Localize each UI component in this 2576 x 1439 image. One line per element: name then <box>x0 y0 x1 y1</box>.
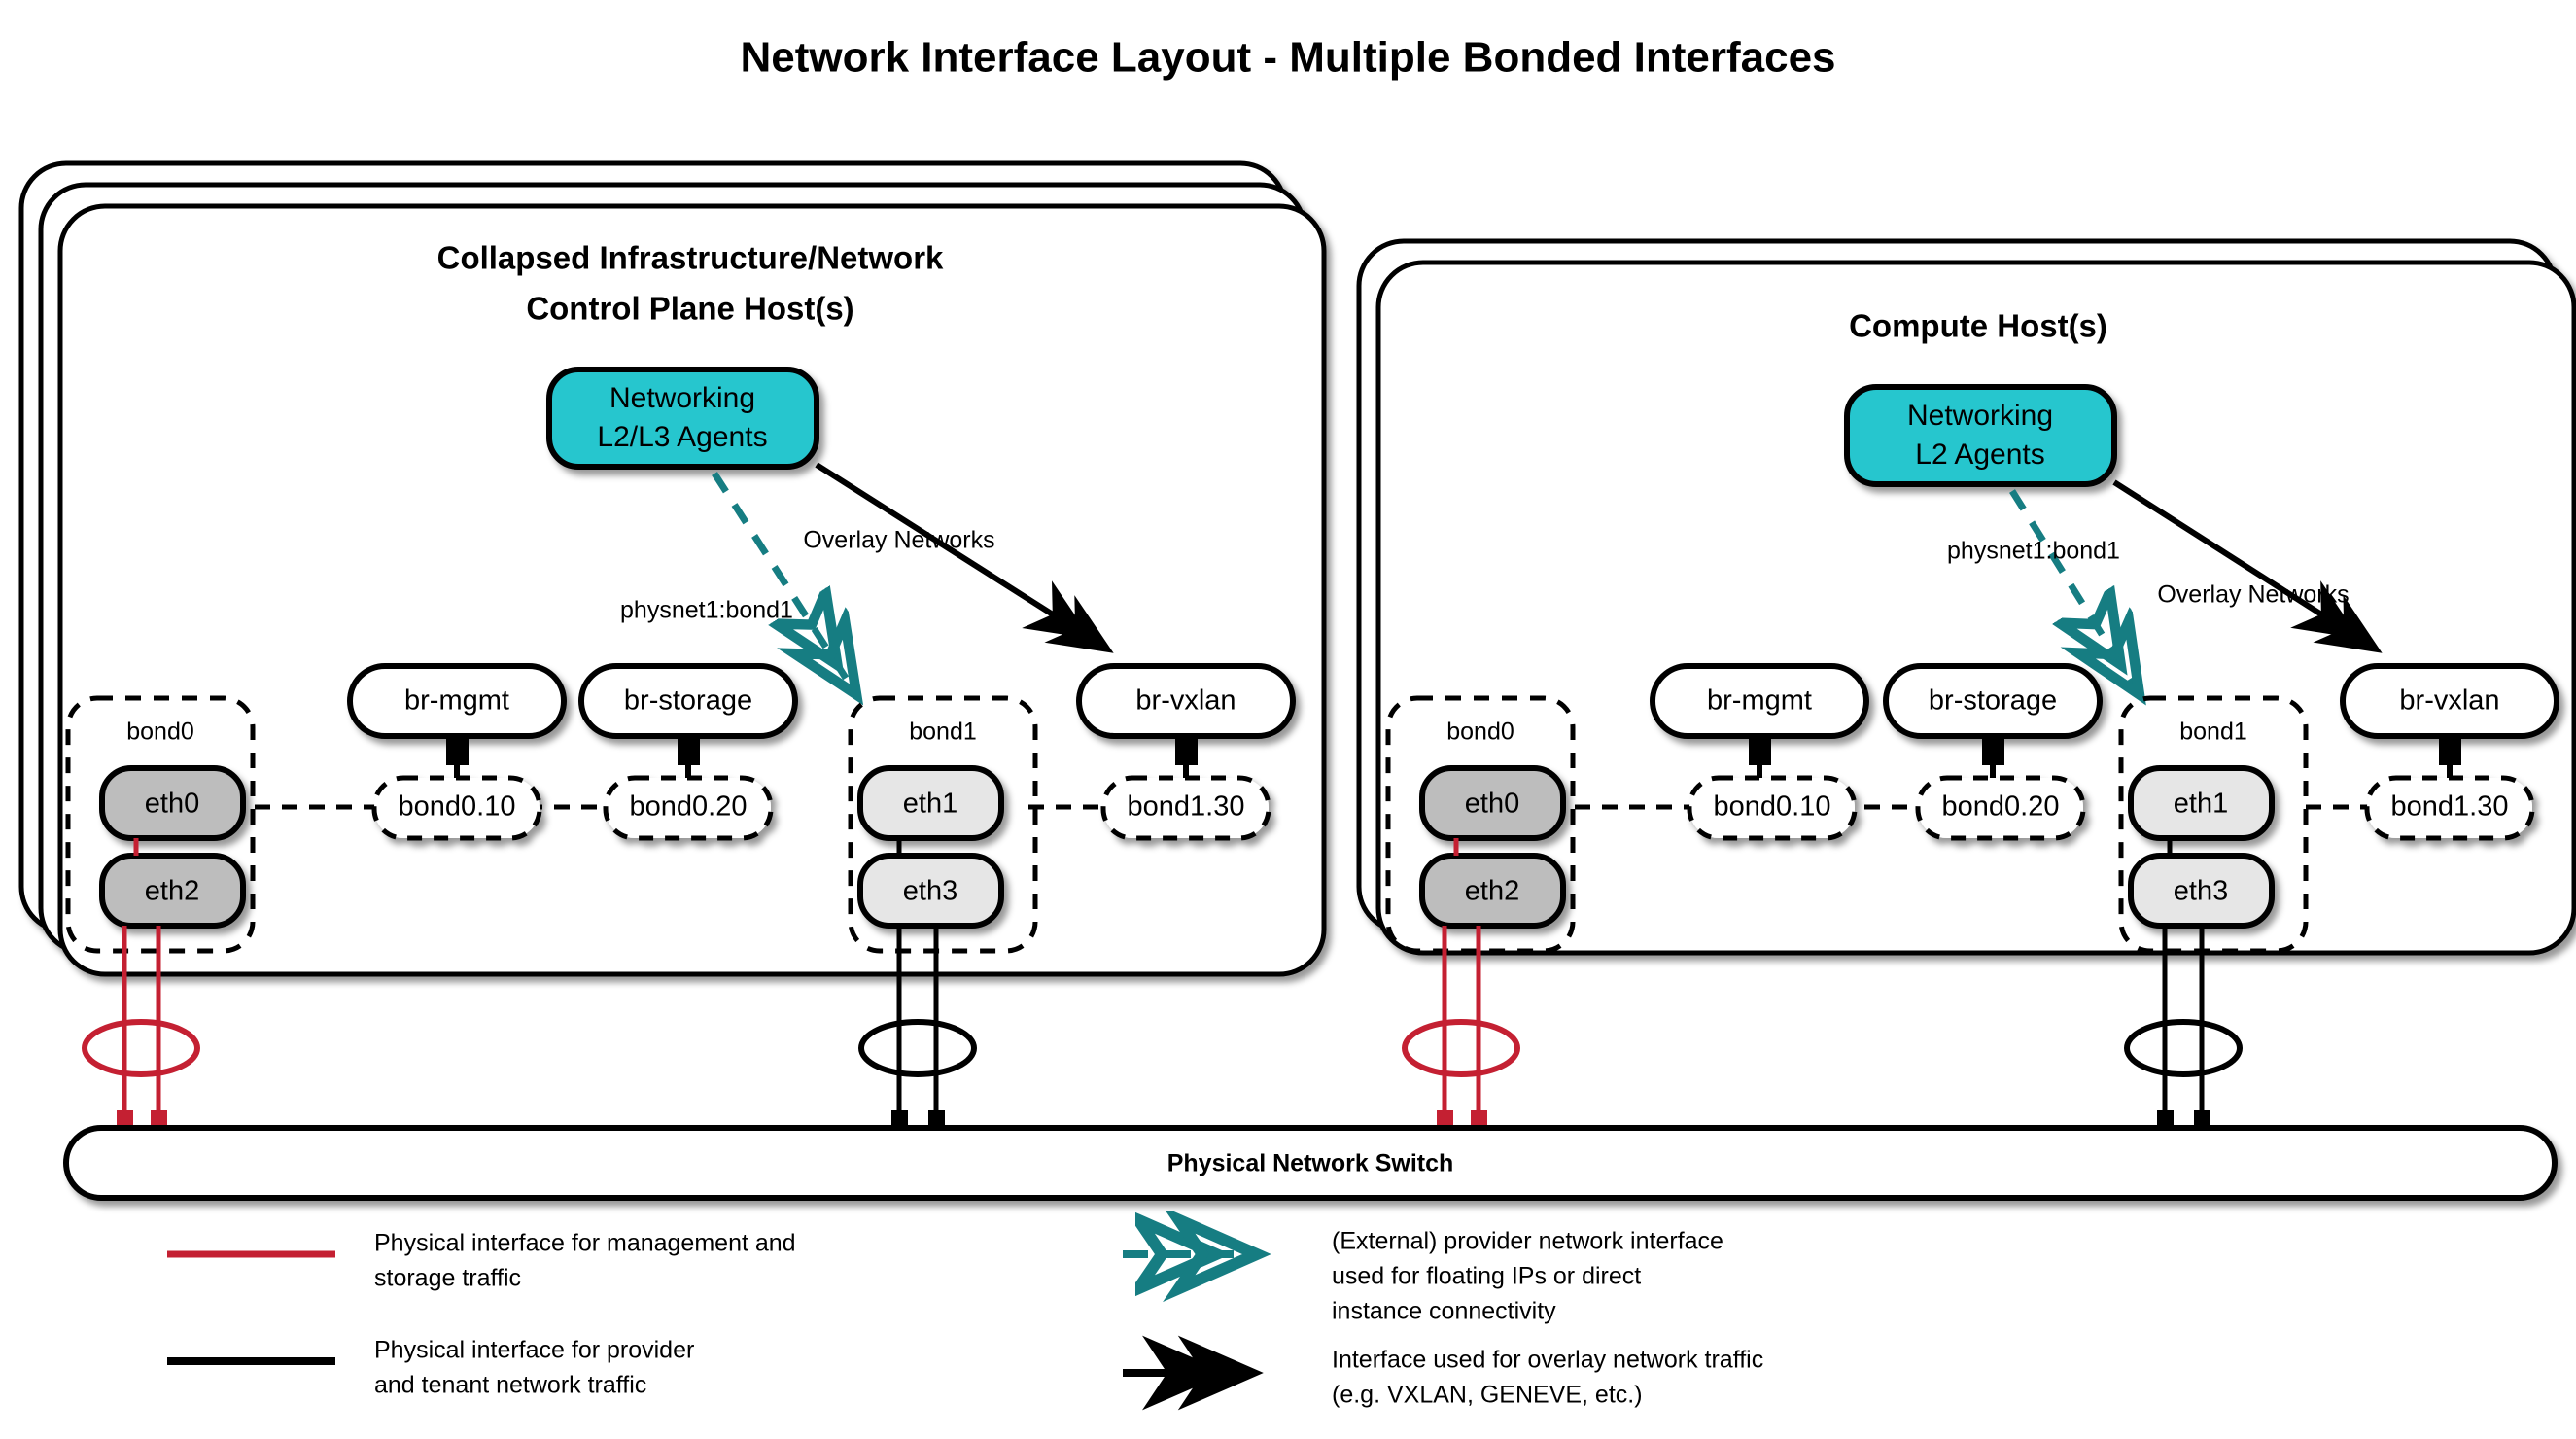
host-title-line1: Collapsed Infrastructure/Network <box>437 240 944 276</box>
br-storage-label: br-storage <box>624 685 752 717</box>
bond0-10-label: bond0.10 <box>399 791 516 823</box>
bond1-30-label: bond1.30 <box>1128 791 1245 823</box>
cable-bundle-marker-black <box>861 1022 974 1074</box>
br-mgmt-label: br-mgmt <box>1707 685 1812 717</box>
legend-text-line2: and tenant network traffic <box>374 1372 646 1399</box>
host-title-line1: Compute Host(s) <box>1849 308 2107 344</box>
bond1-label: bond1 <box>2179 719 2247 746</box>
host-panel-front <box>1378 263 2574 953</box>
cable-bundle-marker-red <box>85 1022 197 1074</box>
agents-label-line2: L2 Agents <box>1915 439 2044 471</box>
br-vxlan-label: br-vxlan <box>2399 685 2499 717</box>
agents-label-line1: Networking <box>1907 400 2053 432</box>
bond0-10-label: bond0.10 <box>1714 791 1831 823</box>
eth0-label: eth0 <box>145 789 199 820</box>
br-vxlan-label: br-vxlan <box>1135 685 1236 717</box>
agents-label-line1: Networking <box>609 382 755 414</box>
host-title-line2: Control Plane Host(s) <box>526 291 853 327</box>
network-diagram: Network Interface Layout - Multiple Bond… <box>0 0 2576 1439</box>
legend-text-line2: used for floating IPs or direct <box>1332 1263 1641 1290</box>
bond1-label: bond1 <box>909 719 977 746</box>
legend-text-line1: Interface used for overlay network traff… <box>1332 1347 1763 1374</box>
bond0-label: bond0 <box>1446 719 1514 746</box>
cable-bundle-marker-black <box>2127 1022 2240 1074</box>
diagram-canvas: Network Interface Layout - Multiple Bond… <box>0 0 2576 1439</box>
eth3-label: eth3 <box>903 876 957 907</box>
br-mgmt-label: br-mgmt <box>404 685 509 717</box>
host-panel-control: Collapsed Infrastructure/Network Control… <box>21 163 1324 1141</box>
eth3-label: eth3 <box>2174 876 2228 907</box>
bridge-port-br-vxlan <box>1175 736 1198 765</box>
physical-network-switch[interactable]: Physical Network Switch <box>66 1128 2555 1198</box>
legend: Physical interface for management and st… <box>167 1228 1763 1409</box>
legend-text-line1: Physical interface for provider <box>374 1337 694 1364</box>
provider-edge-label: physnet1:bond1 <box>620 597 793 624</box>
eth1-label: eth1 <box>903 789 957 820</box>
br-storage-label: br-storage <box>1929 685 2057 717</box>
legend-text-line3: instance connectivity <box>1332 1298 1556 1325</box>
legend-item-3: (External) provider network interface us… <box>1123 1228 1723 1325</box>
overlay-edge-label: Overlay Networks <box>2157 581 2349 609</box>
page-title: Network Interface Layout - Multiple Bond… <box>740 34 1835 82</box>
eth1-label: eth1 <box>2174 789 2228 820</box>
cable-bundle-marker-red <box>1405 1022 1517 1074</box>
legend-item-1: Physical interface for management and st… <box>167 1230 796 1292</box>
bond0-20-label: bond0.20 <box>630 791 748 823</box>
legend-text-line1: (External) provider network interface <box>1332 1228 1723 1255</box>
overlay-edge-label: Overlay Networks <box>803 527 994 554</box>
legend-text-line1: Physical interface for management and <box>374 1230 796 1257</box>
legend-text-line2: storage traffic <box>374 1265 521 1292</box>
bridge-port-br-mgmt <box>1749 736 1771 765</box>
bridge-port-br-storage <box>1982 736 2004 765</box>
agents-label-line2: L2/L3 Agents <box>597 421 767 453</box>
bridge-port-br-storage <box>678 736 700 765</box>
host-panel-compute: Compute Host(s) Networking L2 Agents phy… <box>1359 241 2574 1141</box>
bridge-port-br-mgmt <box>446 736 469 765</box>
bond1-30-label: bond1.30 <box>2391 791 2509 823</box>
provider-edge-label: physnet1:bond1 <box>1947 538 2120 565</box>
eth0-label: eth0 <box>1465 789 1519 820</box>
bond0-label: bond0 <box>126 719 194 746</box>
legend-text-line2: (e.g. VXLAN, GENEVE, etc.) <box>1332 1382 1643 1409</box>
bond0-20-label: bond0.20 <box>1942 791 2060 823</box>
bridge-port-br-vxlan <box>2439 736 2461 765</box>
eth2-label: eth2 <box>1465 876 1519 907</box>
legend-item-4: Interface used for overlay network traff… <box>1123 1347 1763 1409</box>
eth2-label: eth2 <box>145 876 199 907</box>
switch-label: Physical Network Switch <box>1167 1150 1454 1177</box>
legend-item-2: Physical interface for provider and tena… <box>167 1337 694 1399</box>
